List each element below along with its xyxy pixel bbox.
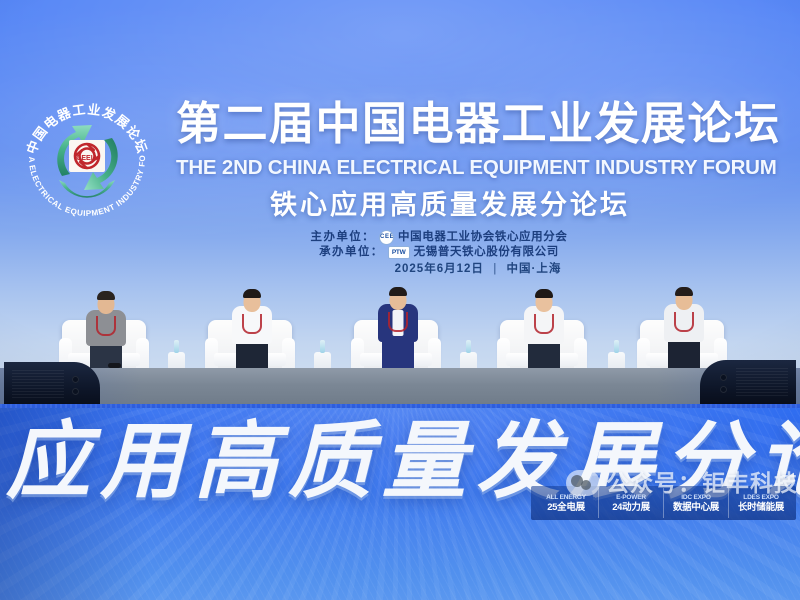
- speaker-grill: [12, 370, 64, 400]
- sponsor-item[interactable]: LDES EXPO 长时储能展: [729, 488, 793, 518]
- sponsor-item[interactable]: IDC EXPO 数据中心展: [664, 488, 729, 518]
- sponsor-name: 长时储能展: [738, 502, 784, 513]
- speaker-driver: [72, 388, 79, 395]
- sponsor-item[interactable]: E-POWER 24动力展: [599, 488, 664, 518]
- sponsor-item[interactable]: ALL ENERGY 25全电展: [534, 488, 599, 518]
- panelist-3: [366, 284, 430, 380]
- panelist-4: [512, 286, 576, 380]
- stage-speaker-right-icon: [700, 360, 796, 408]
- sponsor-name: 25全电展: [547, 502, 585, 513]
- sponsor-mark: IDC EXPO: [681, 494, 710, 502]
- conference-stage-photo: CEEIA 中国电器工业发展论坛 CHINA ELECTRICAL EQUIPM…: [0, 0, 800, 600]
- sponsor-mark: LDES EXPO: [743, 494, 778, 502]
- speaker-driver: [720, 374, 727, 381]
- speaker-driver: [72, 376, 79, 383]
- water-bottle: [174, 340, 179, 353]
- speaker-driver: [720, 386, 727, 393]
- water-bottle: [614, 340, 619, 353]
- sponsor-name: 数据中心展: [673, 502, 719, 513]
- lanyard: [534, 314, 554, 334]
- sponsor-name: 24动力展: [612, 502, 650, 513]
- panelist-hair: [97, 291, 115, 300]
- lanyard: [96, 316, 116, 336]
- water-bottle: [466, 340, 471, 353]
- panelist-hair: [675, 287, 693, 296]
- lanyard: [242, 314, 262, 334]
- speaker-grill: [736, 368, 788, 398]
- panelist-5: [652, 284, 716, 380]
- stage-speaker-left-icon: [4, 362, 100, 410]
- panelist-hair: [389, 287, 407, 296]
- panelist-2: [220, 286, 284, 380]
- sponsor-logo-bar: ALL ENERGY 25全电展 E-POWER 24动力展 IDC EXPO …: [531, 486, 796, 520]
- lanyard: [674, 312, 694, 332]
- panelist-hair: [535, 289, 553, 298]
- lanyard: [388, 312, 408, 332]
- sponsor-mark: ALL ENERGY: [546, 494, 586, 502]
- panel-seating-area: [0, 262, 800, 382]
- panelist-hair: [243, 289, 261, 298]
- water-bottle: [320, 340, 325, 353]
- sponsor-mark: E-POWER: [616, 494, 646, 502]
